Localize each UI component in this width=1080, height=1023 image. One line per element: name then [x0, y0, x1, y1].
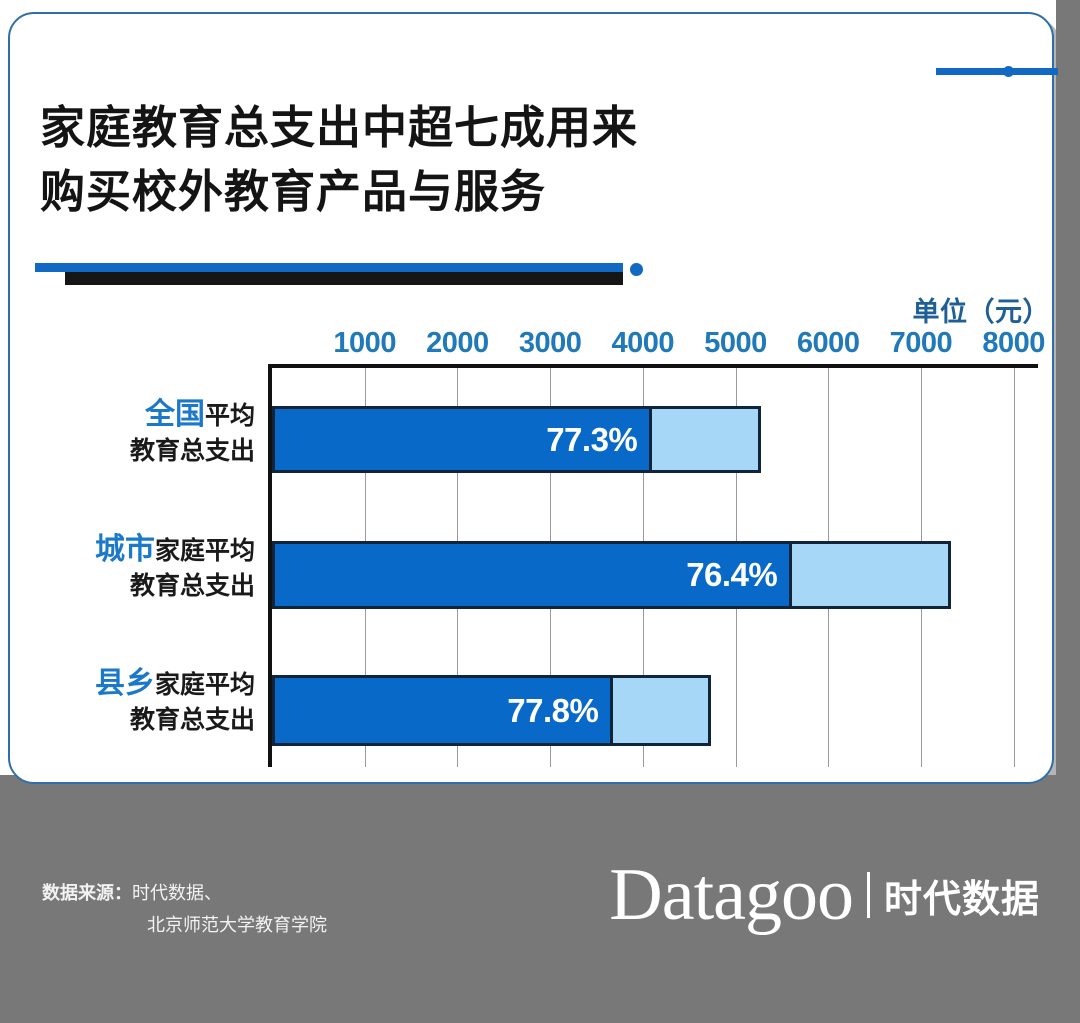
bar-chart: 10002000300040005000600070008000 77.3%76…: [10, 14, 1056, 786]
bar-value-label: 77.8%: [507, 692, 598, 730]
category-label-emphasis: 城市: [95, 533, 155, 566]
brand-logo-wordmark: Datagoo: [609, 858, 853, 932]
data-source-line-2: 北京师范大学教育学院: [42, 910, 327, 942]
bar-value-label: 77.3%: [546, 421, 637, 459]
data-source-label: 数据来源：: [42, 883, 132, 903]
x-axis-tick-label: 1000: [333, 327, 396, 360]
bar-row: 76.4%: [272, 541, 951, 609]
brand-logo-divider: [867, 872, 870, 918]
x-axis-tick-label: 8000: [982, 327, 1045, 360]
bar-out-of-school-segment: 76.4%: [275, 544, 792, 606]
bar-value-label: 76.4%: [686, 556, 777, 594]
brand-logo-chinese: 时代数据: [884, 868, 1040, 923]
bar-total-segment: 77.3%: [272, 406, 761, 473]
brand-logo: Datagoo 时代数据: [609, 858, 1040, 932]
x-axis-tick-label: 2000: [426, 327, 489, 360]
category-label: 全国平均教育总支出: [20, 395, 255, 468]
bar-out-of-school-segment: 77.3%: [275, 409, 652, 470]
gridline: [1014, 368, 1015, 767]
category-label-line2: 教育总支出: [20, 435, 255, 468]
bar-total-segment: 77.8%: [272, 675, 711, 746]
x-axis-tick-label: 4000: [612, 327, 675, 360]
bar-total-segment: 76.4%: [272, 541, 951, 609]
category-label-emphasis: 全国: [145, 398, 205, 431]
bar-row: 77.3%: [272, 406, 761, 473]
bar-row: 77.8%: [272, 675, 711, 746]
x-axis-tick-label: 6000: [797, 327, 860, 360]
x-axis-tick-label: 3000: [519, 327, 582, 360]
infographic-root: 家庭教育总支出中超七成用来 购买校外教育产品与服务 单位（元） 10002000…: [0, 0, 1080, 1023]
axis-top-rule: [268, 364, 1038, 368]
x-axis-tick-label: 7000: [890, 327, 953, 360]
data-source: 数据来源：时代数据、 北京师范大学教育学院: [42, 878, 327, 941]
category-label-rest: 家庭平均: [155, 537, 255, 565]
x-axis-tick-label: 5000: [704, 327, 767, 360]
category-label-line2: 教育总支出: [20, 570, 255, 603]
right-shadow-band: [1056, 0, 1080, 790]
content-card: 家庭教育总支出中超七成用来 购买校外教育产品与服务 单位（元） 10002000…: [8, 12, 1054, 784]
category-label: 县乡家庭平均教育总支出: [20, 664, 255, 737]
data-source-line-1: 时代数据、: [132, 883, 222, 903]
category-label-emphasis: 县乡: [95, 667, 155, 700]
category-label: 城市家庭平均教育总支出: [20, 530, 255, 603]
category-label-line2: 教育总支出: [20, 704, 255, 737]
category-label-rest: 平均: [205, 402, 255, 430]
category-label-rest: 家庭平均: [155, 671, 255, 699]
bar-out-of-school-segment: 77.8%: [275, 678, 613, 743]
